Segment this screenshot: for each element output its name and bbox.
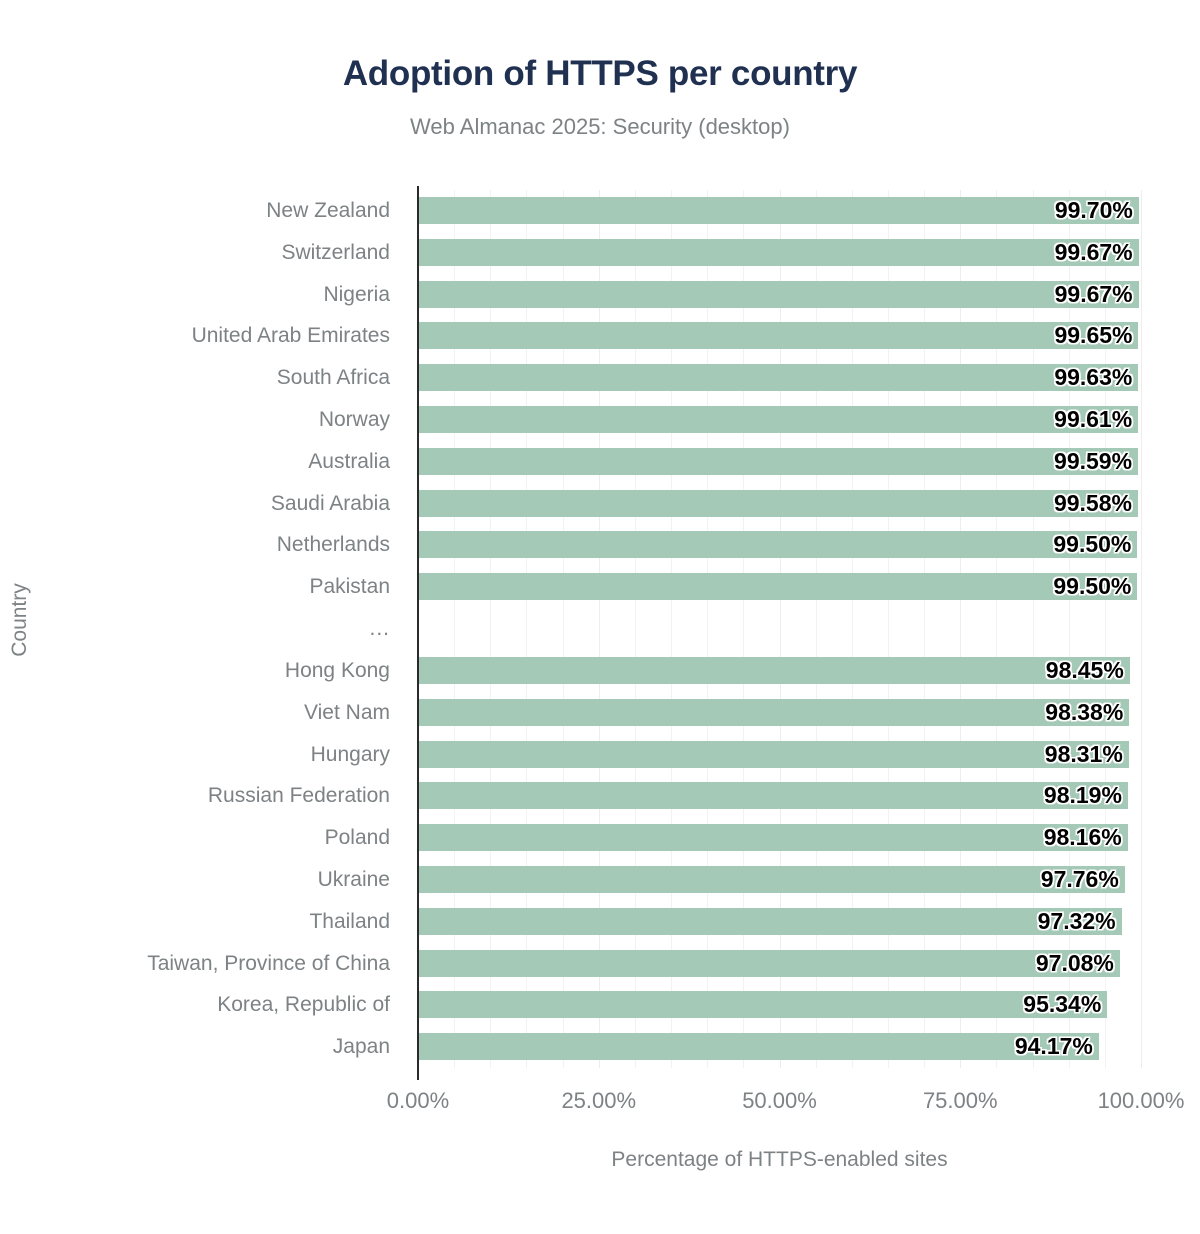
chart-figure: Adoption of HTTPS per country Web Almana… bbox=[0, 0, 1200, 1234]
bar[interactable] bbox=[418, 239, 1139, 266]
bar-value-label: 99.61% bbox=[1054, 406, 1132, 433]
bar[interactable] bbox=[418, 824, 1128, 851]
bar[interactable] bbox=[418, 782, 1128, 809]
bar-row[interactable]: 99.63% bbox=[418, 357, 1141, 398]
x-axis-tick-label: 50.00% bbox=[742, 1088, 817, 1114]
bar-row[interactable]: 98.16% bbox=[418, 817, 1141, 858]
bar[interactable] bbox=[418, 281, 1139, 308]
y-axis-tick-label: Ukraine bbox=[318, 859, 390, 900]
bar-value-label: 99.67% bbox=[1055, 239, 1133, 266]
bar-value-label: 98.45% bbox=[1046, 657, 1124, 684]
bar[interactable] bbox=[418, 406, 1138, 433]
x-axis-tick-label: 75.00% bbox=[923, 1088, 998, 1114]
bar-value-label: 98.38% bbox=[1045, 699, 1123, 726]
y-axis-tick-label: Korea, Republic of bbox=[217, 984, 390, 1025]
bar[interactable] bbox=[418, 364, 1138, 391]
bar[interactable] bbox=[418, 741, 1129, 768]
bar-row[interactable]: 98.45% bbox=[418, 650, 1141, 691]
bar-value-label: 98.31% bbox=[1045, 741, 1123, 768]
page-title: Adoption of HTTPS per country bbox=[0, 54, 1200, 94]
bar[interactable] bbox=[418, 991, 1107, 1018]
x-axis-zero-tick bbox=[417, 1068, 419, 1080]
y-axis-tick-label: Netherlands bbox=[277, 524, 390, 565]
bar-value-label: 97.32% bbox=[1038, 908, 1116, 935]
bar-row[interactable]: 99.70% bbox=[418, 190, 1141, 231]
bar[interactable] bbox=[418, 531, 1137, 558]
y-axis-tick-label: New Zealand bbox=[266, 190, 390, 231]
y-axis-tick-label: Norway bbox=[319, 399, 390, 440]
bar[interactable] bbox=[418, 699, 1129, 726]
bar-row[interactable]: 99.59% bbox=[418, 441, 1141, 482]
y-axis-tick-label: ... bbox=[369, 608, 390, 649]
y-axis-tick-label: Switzerland bbox=[281, 232, 390, 273]
bar-row[interactable]: 99.50% bbox=[418, 566, 1141, 607]
bar-row[interactable]: 98.31% bbox=[418, 734, 1141, 775]
y-axis-tick-label: Nigeria bbox=[323, 274, 390, 315]
bar-value-label: 99.50% bbox=[1053, 531, 1131, 558]
x-axis-tick-label: 0.00% bbox=[387, 1088, 449, 1114]
gridline bbox=[1141, 190, 1142, 1068]
bar-value-label: 99.58% bbox=[1054, 490, 1132, 517]
bar-value-label: 94.17% bbox=[1015, 1033, 1093, 1060]
y-axis-tick-label: Saudi Arabia bbox=[271, 483, 390, 524]
bar-value-label: 99.67% bbox=[1055, 281, 1133, 308]
y-axis-tick-label: Japan bbox=[333, 1026, 390, 1067]
bar-row[interactable]: 98.38% bbox=[418, 692, 1141, 733]
bar-value-label: 98.19% bbox=[1044, 782, 1122, 809]
y-axis-tick-label: Taiwan, Province of China bbox=[147, 943, 390, 984]
y-axis-line bbox=[417, 186, 419, 1072]
bar-value-label: 99.70% bbox=[1055, 197, 1133, 224]
y-axis-tick-label: Pakistan bbox=[309, 566, 390, 607]
bar[interactable] bbox=[418, 866, 1125, 893]
bar-value-label: 97.76% bbox=[1041, 866, 1119, 893]
bar-row[interactable]: 97.08% bbox=[418, 943, 1141, 984]
bar[interactable] bbox=[418, 1033, 1099, 1060]
bar-row[interactable]: 97.32% bbox=[418, 901, 1141, 942]
y-axis-tick-label: Australia bbox=[308, 441, 390, 482]
bar-value-label: 99.50% bbox=[1053, 573, 1131, 600]
x-axis-tick-label: 100.00% bbox=[1098, 1088, 1185, 1114]
bar[interactable] bbox=[418, 657, 1130, 684]
bar-value-label: 99.63% bbox=[1054, 364, 1132, 391]
bar[interactable] bbox=[418, 322, 1138, 349]
bar-row[interactable]: 99.50% bbox=[418, 524, 1141, 565]
bar[interactable] bbox=[418, 448, 1138, 475]
bar-value-label: 99.59% bbox=[1054, 448, 1132, 475]
y-axis-tick-label: Poland bbox=[325, 817, 390, 858]
bar[interactable] bbox=[418, 490, 1138, 517]
y-axis-tick-label: Viet Nam bbox=[304, 692, 390, 733]
bar-row[interactable]: 98.19% bbox=[418, 775, 1141, 816]
x-axis-title: Percentage of HTTPS-enabled sites bbox=[418, 1148, 1141, 1172]
bar-value-label: 95.34% bbox=[1023, 991, 1101, 1018]
y-axis-tick-label: Thailand bbox=[309, 901, 390, 942]
bar-row[interactable]: 97.76% bbox=[418, 859, 1141, 900]
x-axis-tick-labels: 0.00%25.00%50.00%75.00%100.00% bbox=[0, 1088, 1200, 1120]
y-axis-tick-label: Russian Federation bbox=[208, 775, 390, 816]
y-axis-tick-labels: New ZealandSwitzerlandNigeriaUnited Arab… bbox=[0, 190, 404, 1068]
bar[interactable] bbox=[418, 573, 1137, 600]
bar[interactable] bbox=[418, 908, 1122, 935]
bar-value-label: 98.16% bbox=[1044, 824, 1122, 851]
x-axis-tick-label: 25.00% bbox=[561, 1088, 636, 1114]
y-axis-tick-label: Hong Kong bbox=[285, 650, 390, 691]
bar-row[interactable]: 99.67% bbox=[418, 274, 1141, 315]
bar-row[interactable]: 99.67% bbox=[418, 232, 1141, 273]
bar-row[interactable]: 99.61% bbox=[418, 399, 1141, 440]
bar-row[interactable]: 99.58% bbox=[418, 483, 1141, 524]
bar-value-label: 97.08% bbox=[1036, 950, 1114, 977]
plot-area: 99.70%99.67%99.67%99.65%99.63%99.61%99.5… bbox=[418, 190, 1141, 1068]
bar[interactable] bbox=[418, 197, 1139, 224]
bar[interactable] bbox=[418, 950, 1120, 977]
y-axis-tick-label: United Arab Emirates bbox=[192, 315, 390, 356]
bar-row[interactable] bbox=[418, 608, 1141, 649]
bar-row[interactable]: 99.65% bbox=[418, 315, 1141, 356]
bar-row[interactable]: 95.34% bbox=[418, 984, 1141, 1025]
chart-subtitle: Web Almanac 2025: Security (desktop) bbox=[0, 114, 1200, 140]
bar-row[interactable]: 94.17% bbox=[418, 1026, 1141, 1067]
y-axis-tick-label: Hungary bbox=[311, 734, 390, 775]
bar-value-label: 99.65% bbox=[1054, 322, 1132, 349]
y-axis-tick-label: South Africa bbox=[277, 357, 390, 398]
